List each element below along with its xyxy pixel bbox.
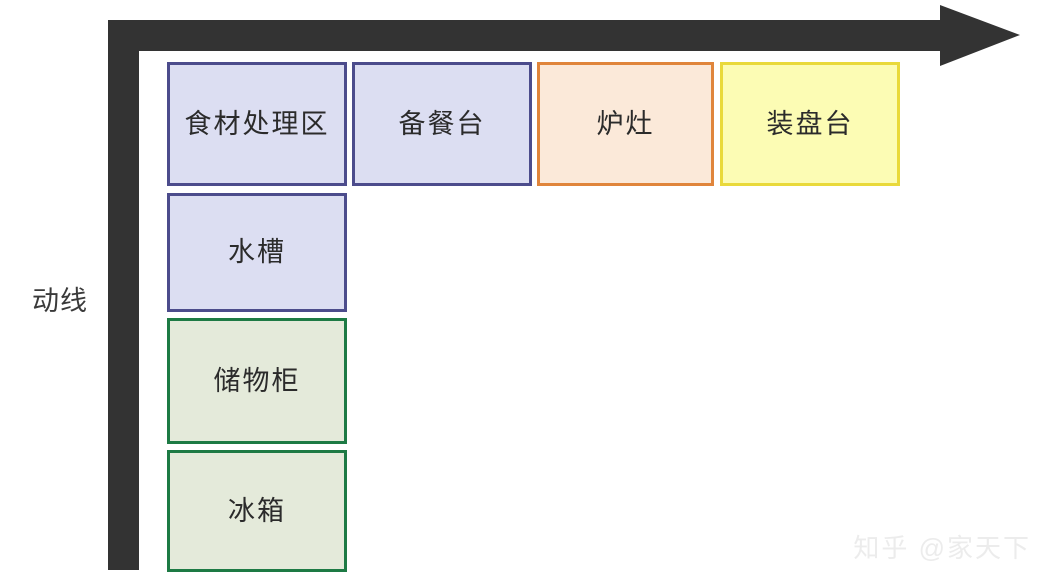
- zone-label: 备餐台: [399, 111, 486, 138]
- zone-label: 水槽: [228, 239, 286, 266]
- zone-label: 炉灶: [597, 111, 655, 138]
- zone-label: 冰箱: [228, 498, 286, 525]
- flow-label: 动线: [14, 279, 106, 318]
- zone-plating-counter[interactable]: 装盘台: [720, 62, 900, 186]
- watermark: 知乎 @家天下: [853, 528, 1031, 565]
- zone-label: 装盘台: [767, 111, 854, 138]
- kitchen-layout-diagram: 动线 食材处理区 备餐台 炉灶 装盘台 水槽 储物柜 冰箱 知乎 @家天下: [0, 0, 1053, 587]
- zone-refrigerator[interactable]: 冰箱: [167, 450, 347, 572]
- zone-sink[interactable]: 水槽: [167, 193, 347, 312]
- zone-food-prep[interactable]: 食材处理区: [167, 62, 347, 186]
- zone-stove[interactable]: 炉灶: [537, 62, 714, 186]
- zone-prep-counter[interactable]: 备餐台: [352, 62, 532, 186]
- zone-label: 食材处理区: [185, 111, 330, 138]
- zone-label: 储物柜: [214, 368, 301, 395]
- zone-storage-cabinet[interactable]: 储物柜: [167, 318, 347, 444]
